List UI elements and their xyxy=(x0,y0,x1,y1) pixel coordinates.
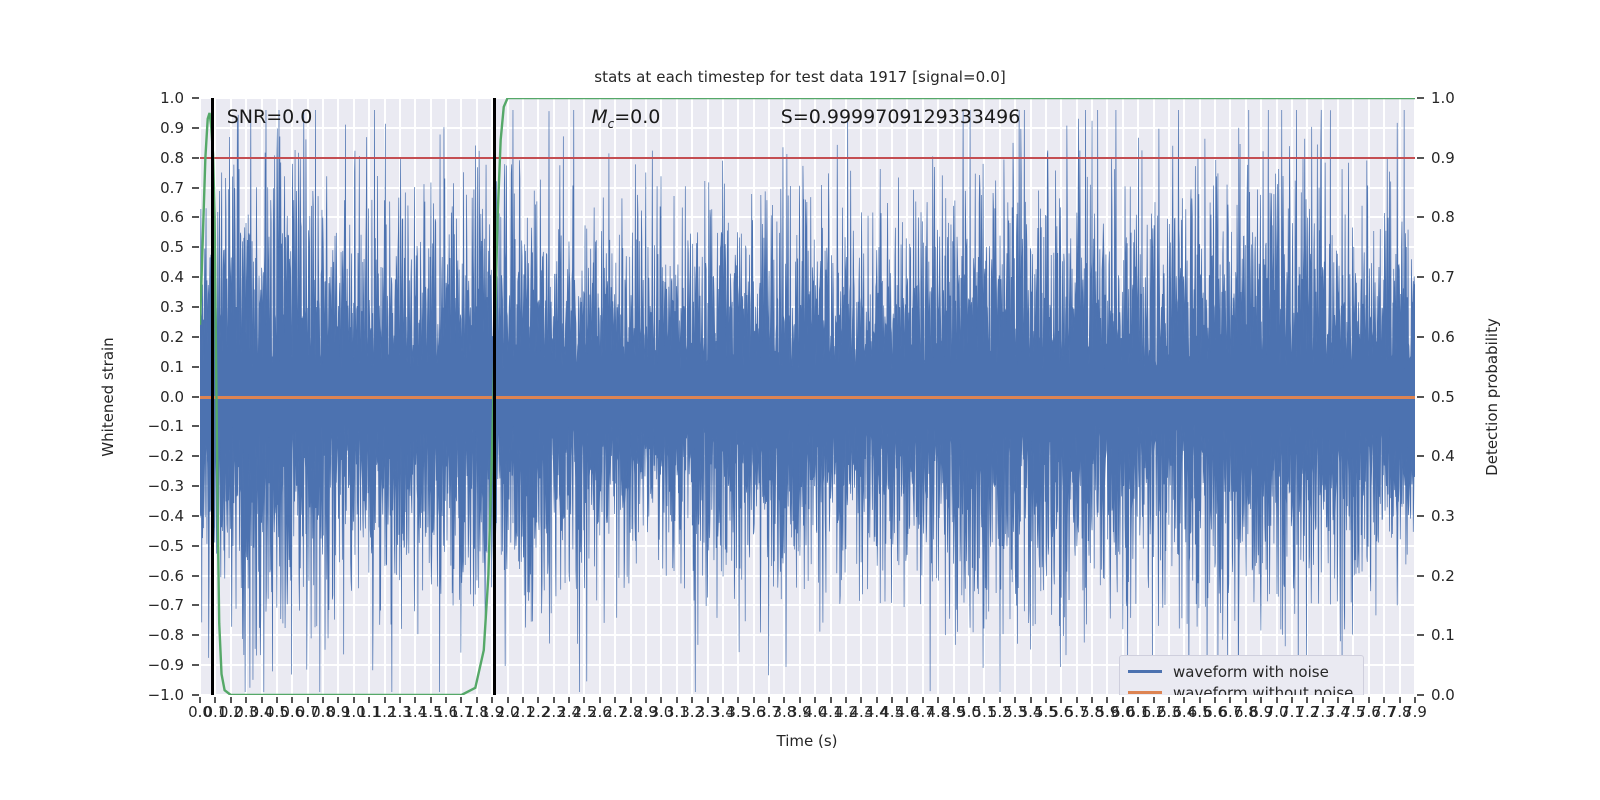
annotation-score: S=0.9999709129333496 xyxy=(781,106,1021,128)
y-axis-left-tick-label: −0.5 xyxy=(110,537,184,555)
y-axis-right-tick-label: 0.3 xyxy=(1431,507,1455,525)
figure-root: stats at each timestep for test data 191… xyxy=(0,0,1600,800)
y-axis-left-tick-label: −0.4 xyxy=(110,507,184,525)
y-axis-left-tick-label: −0.2 xyxy=(110,447,184,465)
y-axis-left-tick-label: 1.0 xyxy=(110,89,184,107)
annotation-mc-symbol: M xyxy=(591,106,607,128)
vertical-marker-line xyxy=(493,98,496,695)
detection-probability-series xyxy=(200,98,1415,695)
y-axis-right-tick xyxy=(1417,157,1424,159)
x-axis-title: Time (s) xyxy=(777,732,838,750)
legend-swatch-waveform-with-noise xyxy=(1128,670,1162,673)
y-axis-right-tick-label: 0.6 xyxy=(1431,328,1455,346)
y-axis-left-tick xyxy=(192,246,199,248)
y-axis-right-tick-label: 0.8 xyxy=(1431,208,1455,226)
y-axis-left-tick xyxy=(192,157,199,159)
y-axis-left-tick xyxy=(192,604,199,606)
detection-probability-path xyxy=(200,98,1415,695)
y-axis-left-tick xyxy=(192,336,199,338)
y-axis-left-tick-label: −0.8 xyxy=(110,626,184,644)
y-axis-right-tick xyxy=(1417,575,1424,577)
y-axis-left-tick xyxy=(192,664,199,666)
y-axis-left-tick xyxy=(192,455,199,457)
y-axis-left-tick xyxy=(192,694,199,696)
y-axis-left-tick-label: 0.1 xyxy=(110,358,184,376)
y-axis-right-tick xyxy=(1417,455,1424,457)
y-axis-left-tick xyxy=(192,575,199,577)
legend-item: waveform with noise xyxy=(1128,661,1353,682)
y-axis-left-tick xyxy=(192,306,199,308)
y-axis-left-tick xyxy=(192,97,199,99)
y-axis-left-tick-label: −0.3 xyxy=(110,477,184,495)
y-axis-left-tick-label: 0.4 xyxy=(110,268,184,286)
y-axis-right-tick-label: 1.0 xyxy=(1431,89,1455,107)
y-axis-right-tick xyxy=(1417,336,1424,338)
y-axis-left-tick xyxy=(192,127,199,129)
y-axis-right-tick-label: 0.2 xyxy=(1431,567,1455,585)
y-axis-right-tick-label: 0.1 xyxy=(1431,626,1455,644)
y-axis-left-tick-label: −0.7 xyxy=(110,596,184,614)
plot-area: SNR=0.0 Mc=0.0 S=0.9999709129333496 wave… xyxy=(200,98,1415,695)
y-axis-right-title: Detection probability xyxy=(1483,318,1501,476)
y-axis-left-tick-label: −0.9 xyxy=(110,656,184,674)
annotation-mc-value: =0.0 xyxy=(614,106,660,128)
y-axis-right-tick xyxy=(1417,515,1424,517)
y-axis-right-tick xyxy=(1417,276,1424,278)
y-axis-right-tick-label: 0.5 xyxy=(1431,388,1455,406)
y-axis-left-tick xyxy=(192,366,199,368)
legend-swatch-waveform-without-noise xyxy=(1128,691,1162,694)
y-axis-right-tick xyxy=(1417,97,1424,99)
annotation-chirp-mass: Mc=0.0 xyxy=(591,106,660,131)
y-axis-left-tick-label: 0.9 xyxy=(110,119,184,137)
y-axis-right-tick xyxy=(1417,396,1424,398)
y-axis-left-title: Whitened strain xyxy=(99,337,117,456)
x-axis-tick-label: 7.9 xyxy=(1403,703,1427,721)
y-axis-right-tick-label: 0.7 xyxy=(1431,268,1455,286)
y-axis-left-tick-label: 0.7 xyxy=(110,179,184,197)
vertical-marker-line xyxy=(211,98,214,695)
y-axis-left-tick xyxy=(192,425,199,427)
y-axis-left-tick-label: −0.6 xyxy=(110,567,184,585)
y-axis-left-tick-label: −1.0 xyxy=(110,686,184,704)
legend-item: waveform without noise xyxy=(1128,682,1353,695)
y-axis-left-tick-label: 0.6 xyxy=(110,208,184,226)
y-axis-right-tick-label: 0.4 xyxy=(1431,447,1455,465)
y-axis-right-tick xyxy=(1417,634,1424,636)
legend: waveform with noise waveform without noi… xyxy=(1119,655,1364,695)
y-axis-left-tick-label: 0.8 xyxy=(110,149,184,167)
y-axis-left-tick xyxy=(192,276,199,278)
y-axis-left-tick-label: 0.2 xyxy=(110,328,184,346)
y-axis-left-tick-label: −0.1 xyxy=(110,417,184,435)
y-axis-right-tick-label: 0.9 xyxy=(1431,149,1455,167)
y-axis-left-tick xyxy=(192,515,199,517)
y-axis-left-tick xyxy=(192,216,199,218)
y-axis-left-tick xyxy=(192,396,199,398)
y-axis-right-tick-label: 0.0 xyxy=(1431,686,1455,704)
y-axis-left-tick xyxy=(192,187,199,189)
annotation-snr: SNR=0.0 xyxy=(227,106,313,128)
legend-label-waveform-without-noise: waveform without noise xyxy=(1173,684,1353,696)
y-axis-left-tick xyxy=(192,485,199,487)
y-axis-left-tick-label: 0.5 xyxy=(110,238,184,256)
page-title: stats at each timestep for test data 191… xyxy=(0,68,1600,86)
legend-label-waveform-with-noise: waveform with noise xyxy=(1173,663,1329,681)
y-axis-left-tick xyxy=(192,545,199,547)
y-axis-right-tick xyxy=(1417,216,1424,218)
y-axis-right-tick xyxy=(1417,694,1424,696)
y-axis-left-tick-label: 0.3 xyxy=(110,298,184,316)
y-axis-left-tick xyxy=(192,634,199,636)
y-axis-left-tick-label: 0.0 xyxy=(110,388,184,406)
